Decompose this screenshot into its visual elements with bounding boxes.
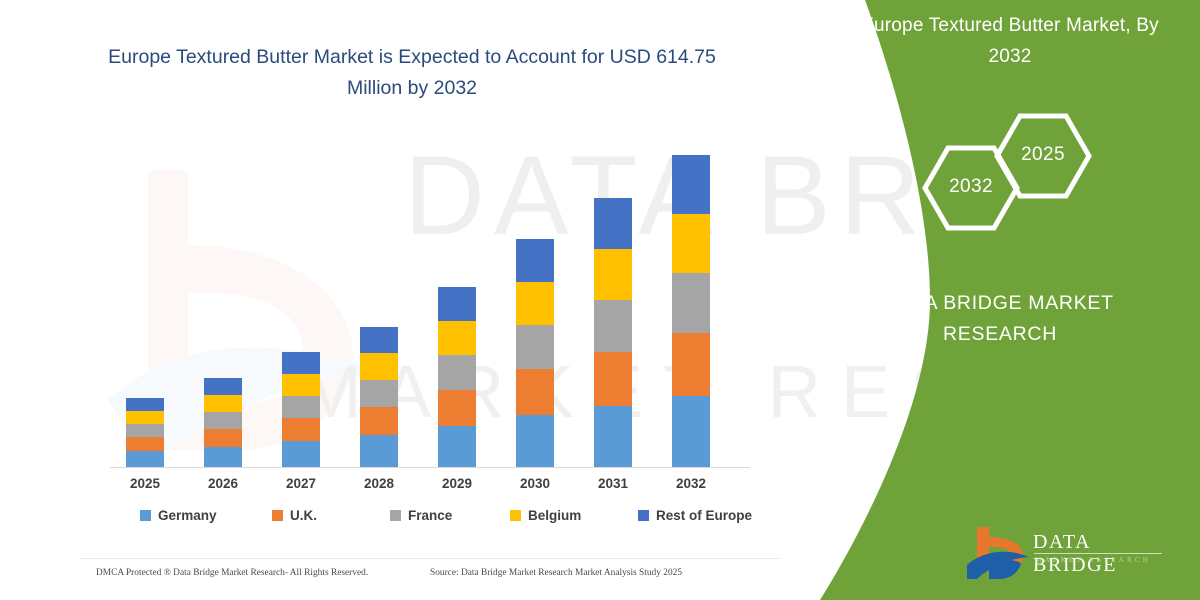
x-tick-2029: 2029 xyxy=(422,476,492,491)
legend-label: Germany xyxy=(158,508,217,523)
bar-segment-u-k xyxy=(438,390,476,426)
x-tick-2026: 2026 xyxy=(188,476,258,491)
x-tick-2027: 2027 xyxy=(266,476,336,491)
bar-segment-belgium xyxy=(204,395,242,412)
legend-item-germany[interactable]: Germany xyxy=(140,508,217,523)
hexagon-shapes-icon xyxy=(920,108,1180,236)
legend-swatch-icon xyxy=(272,510,283,521)
bar-segment-belgium xyxy=(672,214,710,273)
bar-2031 xyxy=(594,198,632,467)
bar-segment-germany xyxy=(672,396,710,467)
hexagon-label-2032: 2032 xyxy=(942,176,1000,198)
bar-segment-rest-of-europe xyxy=(360,327,398,353)
bar-segment-germany xyxy=(594,406,632,467)
legend-item-rest-of-europe[interactable]: Rest of Europe xyxy=(638,508,752,523)
footer-dmca-text: DMCA Protected ® Data Bridge Market Rese… xyxy=(96,568,368,578)
data-bridge-logo: DATA BRIDGE MARKET RESEARCH xyxy=(965,525,1170,581)
infographic-canvas: DATA BRIDGE MARKET RESEARCH Europe Textu… xyxy=(0,0,1200,600)
bar-segment-france xyxy=(360,380,398,407)
bar-segment-u-k xyxy=(516,369,554,415)
bar-segment-germany xyxy=(360,435,398,467)
bar-segment-belgium xyxy=(438,321,476,355)
bar-segment-u-k xyxy=(594,352,632,406)
legend-item-france[interactable]: France xyxy=(390,508,452,523)
bar-2032 xyxy=(672,155,710,467)
bar-segment-germany xyxy=(516,415,554,467)
bar-segment-germany xyxy=(126,451,164,467)
bar-segment-u-k xyxy=(282,418,320,441)
brand-panel: Europe Textured Butter Market, By 2032 2… xyxy=(760,0,1200,600)
bar-segment-u-k xyxy=(204,429,242,447)
bar-segment-belgium xyxy=(360,353,398,380)
panel-brand-text: DATA BRIDGE MARKET RESEARCH xyxy=(840,288,1160,350)
legend-label: U.K. xyxy=(290,508,317,523)
bar-2025 xyxy=(126,398,164,467)
bar-segment-rest-of-europe xyxy=(204,378,242,395)
bar-segment-france xyxy=(438,355,476,390)
chart-title: Europe Textured Butter Market is Expecte… xyxy=(104,42,720,104)
x-tick-2030: 2030 xyxy=(500,476,570,491)
bar-segment-france xyxy=(204,412,242,429)
stacked-bar-chart: 20252026202720282029203020312032 xyxy=(100,140,760,470)
logo-subtext: MARKET RESEARCH xyxy=(1035,556,1151,564)
x-tick-2028: 2028 xyxy=(344,476,414,491)
bar-segment-germany xyxy=(438,426,476,467)
bar-2030 xyxy=(516,239,554,467)
legend-label: France xyxy=(408,508,452,523)
bar-segment-france xyxy=(516,325,554,369)
bar-segment-france xyxy=(594,300,632,352)
bar-segment-u-k xyxy=(360,407,398,435)
bar-2026 xyxy=(204,378,242,467)
bar-2029 xyxy=(438,287,476,467)
bar-segment-rest-of-europe xyxy=(672,155,710,214)
bar-segment-rest-of-europe xyxy=(126,398,164,411)
bar-segment-france xyxy=(126,424,164,437)
bar-segment-belgium xyxy=(126,411,164,424)
legend-swatch-icon xyxy=(638,510,649,521)
chart-legend: GermanyU.K.FranceBelgiumRest of Europe xyxy=(100,508,760,530)
footer-source-text: Source: Data Bridge Market Research Mark… xyxy=(430,568,682,578)
bar-segment-germany xyxy=(282,441,320,467)
bar-segment-belgium xyxy=(594,249,632,300)
legend-item-u-k[interactable]: U.K. xyxy=(272,508,317,523)
x-tick-2031: 2031 xyxy=(578,476,648,491)
chart-plot-area xyxy=(100,140,760,467)
bar-segment-u-k xyxy=(126,437,164,451)
bar-2027 xyxy=(282,352,320,467)
bar-segment-rest-of-europe xyxy=(516,239,554,282)
legend-label: Belgium xyxy=(528,508,581,523)
legend-swatch-icon xyxy=(390,510,401,521)
legend-swatch-icon xyxy=(510,510,521,521)
bar-segment-rest-of-europe xyxy=(282,352,320,374)
bar-2028 xyxy=(360,327,398,467)
hexagon-group: 2032 2025 xyxy=(920,108,1180,236)
panel-title: Europe Textured Butter Market, By 2032 xyxy=(860,10,1160,72)
hexagon-label-2025: 2025 xyxy=(1014,144,1072,166)
legend-item-belgium[interactable]: Belgium xyxy=(510,508,581,523)
bar-segment-belgium xyxy=(516,282,554,325)
logo-divider xyxy=(1034,553,1162,554)
bar-segment-france xyxy=(282,396,320,418)
bar-segment-belgium xyxy=(282,374,320,396)
bar-segment-rest-of-europe xyxy=(594,198,632,249)
x-axis-line xyxy=(110,467,750,468)
footer-divider xyxy=(80,558,780,559)
logo-mark-icon xyxy=(965,525,1031,579)
legend-label: Rest of Europe xyxy=(656,508,752,523)
bar-segment-france xyxy=(672,273,710,333)
legend-swatch-icon xyxy=(140,510,151,521)
bar-segment-u-k xyxy=(672,333,710,396)
bar-segment-germany xyxy=(204,447,242,467)
x-axis-tick-labels: 20252026202720282029203020312032 xyxy=(100,476,760,496)
x-tick-2025: 2025 xyxy=(110,476,180,491)
bar-segment-rest-of-europe xyxy=(438,287,476,321)
x-tick-2032: 2032 xyxy=(656,476,726,491)
logo-wordmark: DATA BRIDGE xyxy=(1033,531,1170,577)
